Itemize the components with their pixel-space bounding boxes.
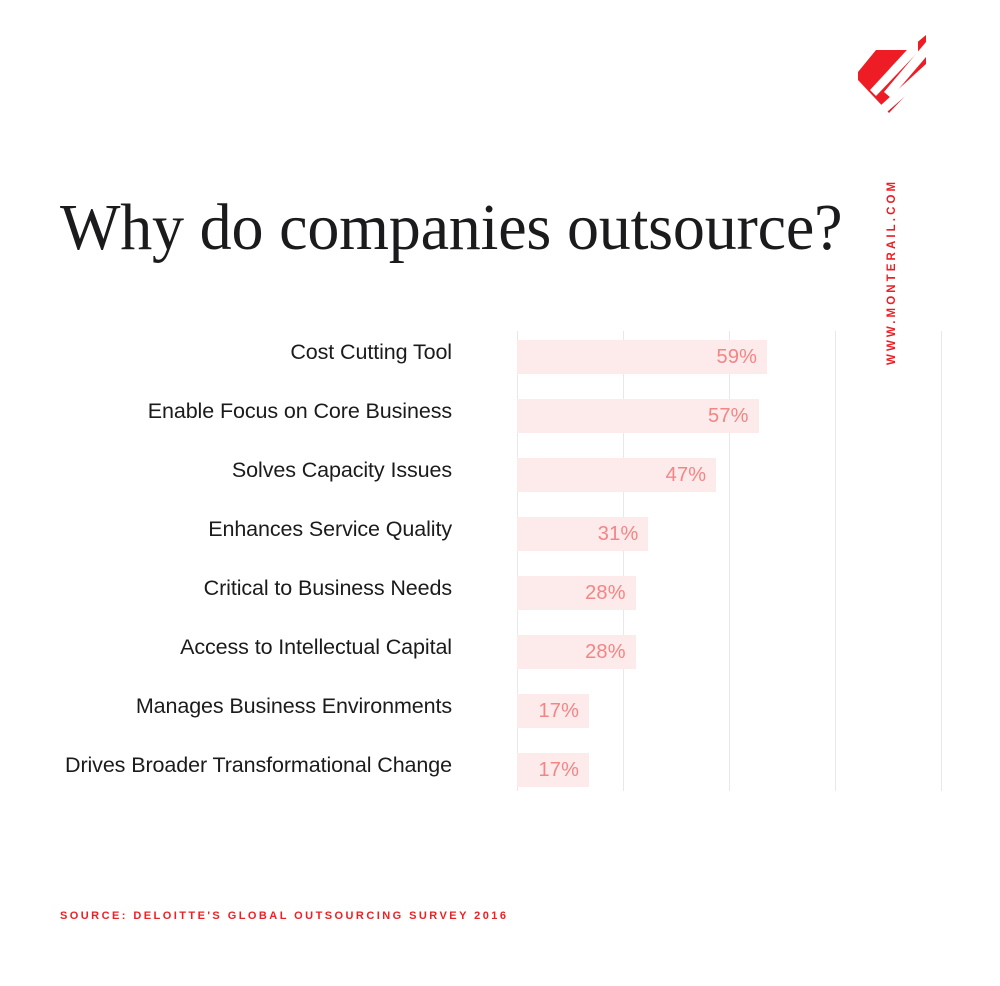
bar: 28%: [517, 635, 636, 669]
bar-value-label: 47%: [666, 458, 707, 492]
bar-value-label: 59%: [717, 340, 758, 374]
bar-chart: Cost Cutting Tool59%Enable Focus on Core…: [0, 331, 1000, 793]
category-label: Drives Broader Transformational Change: [14, 753, 484, 778]
chart-row: Enhances Service Quality31%: [0, 508, 1000, 567]
chart-row: Critical to Business Needs28%: [0, 567, 1000, 626]
bar: 57%: [517, 399, 759, 433]
monterail-logo: [856, 34, 928, 116]
bar-value-label: 17%: [538, 694, 579, 728]
category-label: Critical to Business Needs: [14, 576, 484, 601]
category-label: Enable Focus on Core Business: [14, 399, 484, 424]
bar: 17%: [517, 753, 589, 787]
chart-row: Solves Capacity Issues47%: [0, 449, 1000, 508]
bar-value-label: 28%: [585, 576, 626, 610]
category-label: Cost Cutting Tool: [14, 340, 484, 365]
chart-row: Cost Cutting Tool59%: [0, 331, 1000, 390]
bar: 17%: [517, 694, 589, 728]
bar-value-label: 57%: [708, 399, 749, 433]
bar: 47%: [517, 458, 716, 492]
chart-row: Manages Business Environments17%: [0, 685, 1000, 744]
chart-rows: Cost Cutting Tool59%Enable Focus on Core…: [0, 331, 1000, 803]
bar: 31%: [517, 517, 648, 551]
bar: 28%: [517, 576, 636, 610]
chart-row: Access to Intellectual Capital28%: [0, 626, 1000, 685]
category-label: Access to Intellectual Capital: [14, 635, 484, 660]
bar-value-label: 28%: [585, 635, 626, 669]
category-label: Manages Business Environments: [14, 694, 484, 719]
source-caption: SOURCE: DELOITTE'S GLOBAL OUTSOURCING SU…: [60, 910, 508, 922]
page-title: Why do companies outsource?: [60, 190, 842, 266]
category-label: Enhances Service Quality: [14, 517, 484, 542]
bar: 59%: [517, 340, 767, 374]
bar-value-label: 31%: [598, 517, 639, 551]
category-label: Solves Capacity Issues: [14, 458, 484, 483]
chart-row: Enable Focus on Core Business57%: [0, 390, 1000, 449]
bar-value-label: 17%: [538, 753, 579, 787]
chart-row: Drives Broader Transformational Change17…: [0, 744, 1000, 803]
